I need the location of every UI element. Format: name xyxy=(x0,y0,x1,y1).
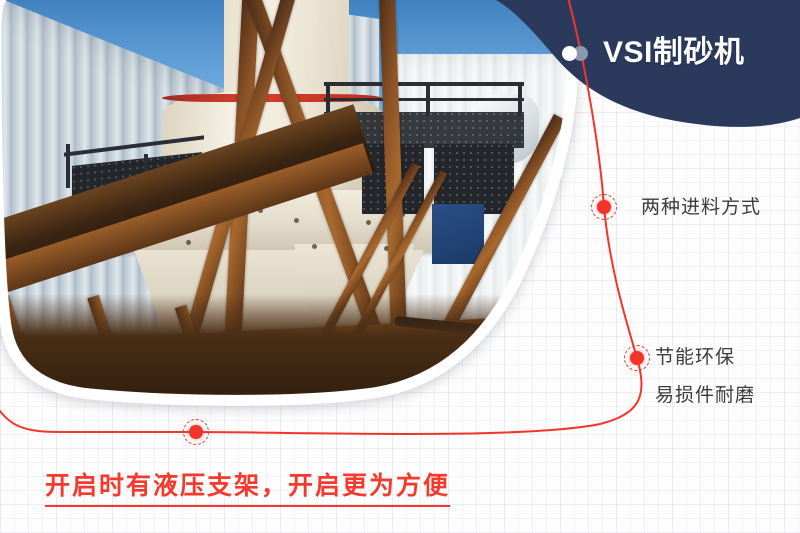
annotation-label-feed: 两种进料方式 xyxy=(641,195,761,221)
railing-left-post1 xyxy=(66,144,70,188)
bottom-caption: 开启时有液压支架，开启更为方便 xyxy=(45,466,450,507)
marker-dot-bottom[interactable] xyxy=(183,419,209,445)
green-bush xyxy=(514,312,584,374)
dot-core-icon xyxy=(597,200,611,214)
marker-dot-feed[interactable] xyxy=(591,194,617,220)
banner-title-group: VSI制砂机 xyxy=(562,38,744,68)
railing-upper-post2 xyxy=(426,82,430,116)
promo-banner-stage: 7 xyxy=(0,0,800,533)
banner-shape xyxy=(470,0,800,150)
annotation-label-wear: 易损件耐磨 xyxy=(655,383,755,409)
annotation-label-eco: 节能环保 xyxy=(655,345,735,371)
dot-core-icon xyxy=(189,425,203,439)
motor-pulley xyxy=(494,294,566,366)
marker-dot-eco[interactable] xyxy=(624,345,650,371)
blue-equipment-box xyxy=(432,204,484,264)
title-banner: VSI制砂机 xyxy=(470,0,800,150)
ground-shadow xyxy=(0,294,584,414)
double-dot-icon xyxy=(562,46,590,61)
dot-core-icon xyxy=(630,351,644,365)
page-title: VSI制砂机 xyxy=(603,38,744,68)
